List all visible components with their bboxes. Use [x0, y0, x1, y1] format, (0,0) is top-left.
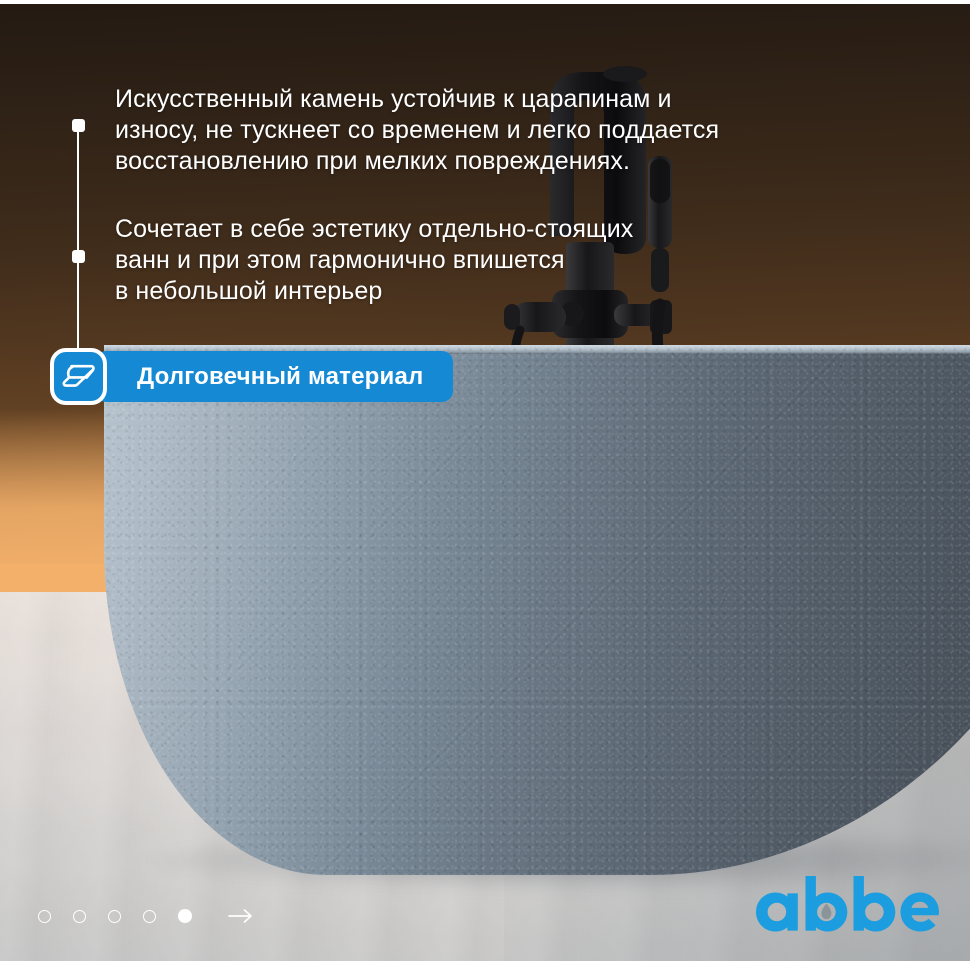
- pagination[interactable]: [38, 908, 254, 924]
- bathtub-stone-texture: [104, 345, 970, 875]
- pagination-dot-1[interactable]: [38, 910, 51, 923]
- pagination-dot-4[interactable]: [143, 910, 156, 923]
- pagination-dot-5[interactable]: [178, 909, 192, 923]
- abber-logo: [752, 876, 942, 938]
- feature-paragraph-1: Искусственный камень устойчив к царапина…: [115, 84, 775, 177]
- card-bottom-edge: [0, 961, 970, 965]
- connector-line: [77, 126, 79, 358]
- feature-badge-label: Долговечный материал: [95, 351, 453, 402]
- pagination-dot-2[interactable]: [73, 910, 86, 923]
- next-arrow-icon[interactable]: [228, 908, 254, 924]
- bathtub: [104, 345, 970, 875]
- card-top-edge: [0, 0, 970, 4]
- pagination-dot-3[interactable]: [108, 910, 121, 923]
- eraser-stone-icon: [50, 348, 107, 405]
- feature-badge[interactable]: Долговечный материал: [50, 348, 453, 405]
- slide-canvas: Искусственный камень устойчив к царапина…: [0, 0, 970, 965]
- feature-paragraph-2: Сочетает в себе эстетику отдельно-стоящи…: [115, 214, 735, 307]
- connector-node-1: [72, 119, 85, 132]
- connector-node-2: [72, 250, 85, 263]
